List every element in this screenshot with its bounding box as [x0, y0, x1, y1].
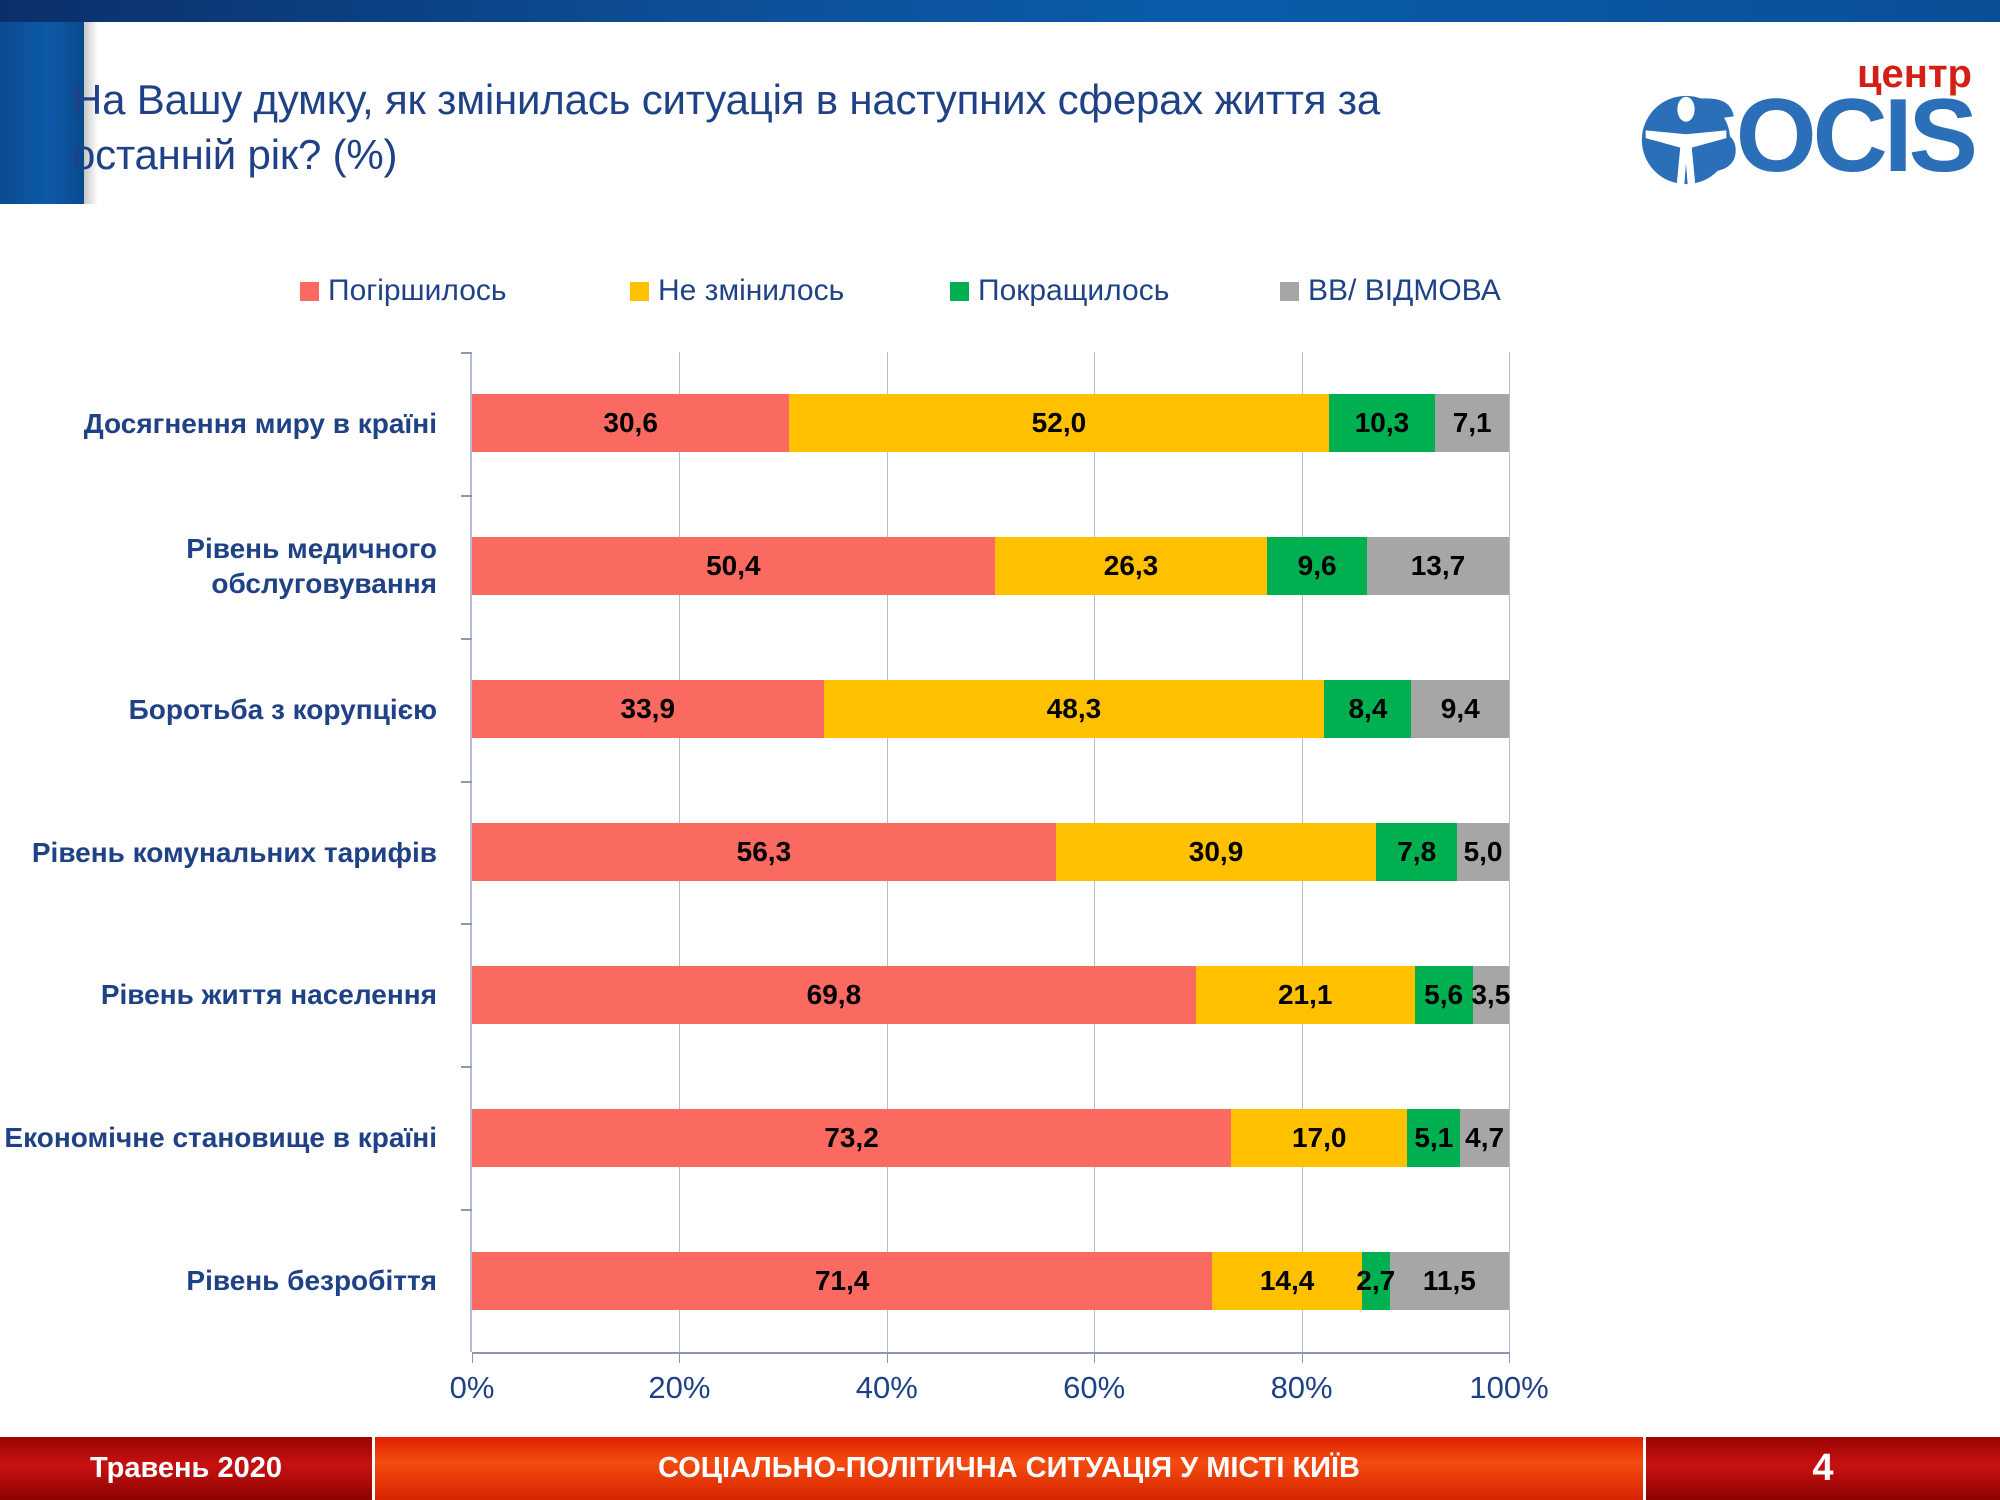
bar-segment-2[interactable]: 17,0	[1231, 1109, 1407, 1167]
footer-subject-text: СОЦІАЛЬНО-ПОЛІТИЧНА СИТУАЦІЯ У МІСТІ КИЇ…	[658, 1452, 1360, 1485]
bar-segment-4[interactable]: 7,1	[1435, 394, 1509, 452]
category-label: Боротьба з корупцією	[0, 692, 437, 727]
legend-item-label: Не змінилось	[658, 274, 844, 308]
bar-segment-4[interactable]: 11,5	[1390, 1252, 1509, 1310]
page-title: На Вашу думку, як змінилась ситуація в н…	[72, 72, 1502, 183]
bar-segment-1[interactable]: 33,9	[472, 680, 824, 738]
bar-segment-value: 4,7	[1465, 1122, 1504, 1154]
footer-date-text: Травень 2020	[90, 1452, 282, 1485]
legend-item-1[interactable]: Погіршилось	[300, 274, 507, 308]
chart-legend: ПогіршилосьНе змінилосьПокращилосьВВ/ ВІ…	[300, 274, 1700, 314]
footer-page-number: 4	[1812, 1447, 1833, 1490]
bar-row[interactable]: 50,426,39,613,7	[472, 537, 1509, 595]
x-axis-tick-label: 0%	[450, 1370, 495, 1406]
bar-segment-value: 71,4	[815, 1265, 870, 1297]
legend-item-label: Покращилось	[978, 274, 1169, 308]
bar-segment-1[interactable]: 69,8	[472, 966, 1196, 1024]
legend-swatch-icon	[1280, 282, 1299, 301]
legend-swatch-icon	[630, 282, 649, 301]
bar-segment-value: 48,3	[1047, 693, 1102, 725]
category-label: Рівень життя населення	[0, 977, 437, 1012]
bar-segment-value: 9,4	[1441, 693, 1480, 725]
bar-segment-3[interactable]: 5,1	[1407, 1109, 1460, 1167]
bar-segment-2[interactable]: 26,3	[995, 537, 1268, 595]
x-axis-tick	[1509, 1352, 1510, 1363]
bar-segment-3[interactable]: 10,3	[1329, 394, 1436, 452]
category-label: Економічне становище в країні	[0, 1120, 437, 1155]
category-label: Рівень комунальних тарифів	[0, 835, 437, 870]
footer-subject-block: СОЦІАЛЬНО-ПОЛІТИЧНА СИТУАЦІЯ У МІСТІ КИЇ…	[375, 1437, 1643, 1500]
y-axis-tick	[461, 352, 472, 354]
footer-page-block: 4	[1646, 1437, 2000, 1500]
bar-segment-value: 30,9	[1189, 836, 1244, 868]
category-label: Досягнення миру в країні	[0, 406, 437, 441]
bar-segment-1[interactable]: 73,2	[472, 1109, 1231, 1167]
bar-segment-value: 26,3	[1104, 550, 1159, 582]
bar-row[interactable]: 69,821,15,63,5	[472, 966, 1509, 1024]
bar-segment-value: 3,5	[1471, 979, 1510, 1011]
slide-footer: Травень 2020 СОЦІАЛЬНО-ПОЛІТИЧНА СИТУАЦІ…	[0, 1437, 2000, 1500]
category-label: Рівень медичного обслуговування	[0, 531, 437, 601]
bar-segment-3[interactable]: 7,8	[1376, 823, 1457, 881]
bar-segment-value: 21,1	[1278, 979, 1333, 1011]
y-axis-tick	[461, 1066, 472, 1068]
legend-swatch-icon	[950, 282, 969, 301]
y-axis-tick	[461, 495, 472, 497]
x-axis-tick-label: 80%	[1271, 1370, 1333, 1406]
bar-segment-2[interactable]: 21,1	[1196, 966, 1415, 1024]
socis-logo: центр SOCIS	[1540, 52, 1980, 192]
bar-segment-4[interactable]: 3,5	[1473, 966, 1509, 1024]
bar-segment-value: 52,0	[1032, 407, 1087, 439]
bar-segment-3[interactable]: 9,6	[1267, 537, 1367, 595]
y-axis-tick	[461, 638, 472, 640]
x-axis-tick-label: 60%	[1063, 1370, 1125, 1406]
slide: На Вашу думку, як змінилась ситуація в н…	[0, 0, 2000, 1500]
bar-segment-2[interactable]: 48,3	[824, 680, 1325, 738]
bar-row[interactable]: 73,217,05,14,7	[472, 1109, 1509, 1167]
chart-plot-area: 0%20%40%60%80%100%30,652,010,37,1Досягне…	[470, 352, 1507, 1352]
x-axis-tick-label: 20%	[648, 1370, 710, 1406]
bar-segment-value: 2,7	[1356, 1265, 1395, 1297]
bar-segment-value: 5,1	[1414, 1122, 1453, 1154]
bar-segment-4[interactable]: 13,7	[1367, 537, 1509, 595]
footer-date-block: Травень 2020	[0, 1437, 372, 1500]
legend-item-label: ВВ/ ВІДМОВА	[1308, 274, 1501, 308]
legend-item-label: Погіршилось	[328, 274, 507, 308]
bar-segment-1[interactable]: 56,3	[472, 823, 1056, 881]
bar-segment-2[interactable]: 52,0	[789, 394, 1328, 452]
bar-segment-value: 50,4	[706, 550, 761, 582]
bar-row[interactable]: 33,948,38,49,4	[472, 680, 1509, 738]
bar-row[interactable]: 71,414,42,711,5	[472, 1252, 1509, 1310]
bar-row[interactable]: 30,652,010,37,1	[472, 394, 1509, 452]
bar-row[interactable]: 56,330,97,85,0	[472, 823, 1509, 881]
bar-segment-4[interactable]: 5,0	[1457, 823, 1509, 881]
bar-segment-value: 8,4	[1348, 693, 1387, 725]
bar-segment-value: 9,6	[1298, 550, 1337, 582]
bar-segment-1[interactable]: 50,4	[472, 537, 995, 595]
bar-segment-value: 33,9	[621, 693, 676, 725]
bar-segment-value: 7,8	[1397, 836, 1436, 868]
bar-segment-2[interactable]: 14,4	[1212, 1252, 1361, 1310]
bar-segment-4[interactable]: 4,7	[1460, 1109, 1509, 1167]
bar-segment-value: 56,3	[737, 836, 792, 868]
x-axis-line	[472, 1352, 1509, 1354]
legend-item-2[interactable]: Не змінилось	[630, 274, 844, 308]
y-axis-tick	[461, 781, 472, 783]
bar-segment-value: 30,6	[603, 407, 658, 439]
bar-segment-value: 7,1	[1453, 407, 1492, 439]
header-accent-bar	[0, 0, 2000, 22]
bar-segment-4[interactable]: 9,4	[1411, 680, 1508, 738]
legend-swatch-icon	[300, 282, 319, 301]
bar-segment-value: 5,0	[1464, 836, 1503, 868]
bar-segment-value: 73,2	[824, 1122, 879, 1154]
vitruvian-man-icon	[1638, 92, 1734, 188]
bar-segment-1[interactable]: 30,6	[472, 394, 789, 452]
legend-item-3[interactable]: Покращилось	[950, 274, 1169, 308]
x-axis-tick-label: 100%	[1469, 1370, 1548, 1406]
bar-segment-1[interactable]: 71,4	[472, 1252, 1212, 1310]
bar-segment-value: 13,7	[1411, 550, 1466, 582]
y-axis-tick	[461, 923, 472, 925]
legend-item-4[interactable]: ВВ/ ВІДМОВА	[1280, 274, 1501, 308]
bar-segment-value: 17,0	[1292, 1122, 1347, 1154]
chart-gridline	[1509, 352, 1510, 1352]
bar-segment-3[interactable]: 2,7	[1362, 1252, 1390, 1310]
y-axis-tick	[461, 1209, 472, 1211]
bar-segment-value: 10,3	[1355, 407, 1410, 439]
bar-segment-value: 69,8	[807, 979, 862, 1011]
bar-segment-value: 14,4	[1260, 1265, 1315, 1297]
bar-segment-2[interactable]: 30,9	[1056, 823, 1376, 881]
bar-segment-3[interactable]: 8,4	[1324, 680, 1411, 738]
bar-segment-3[interactable]: 5,6	[1415, 966, 1473, 1024]
category-label: Рівень безробіття	[0, 1263, 437, 1298]
x-axis-tick-label: 40%	[856, 1370, 918, 1406]
bar-segment-value: 5,6	[1424, 979, 1463, 1011]
bar-segment-value: 11,5	[1423, 1265, 1476, 1297]
